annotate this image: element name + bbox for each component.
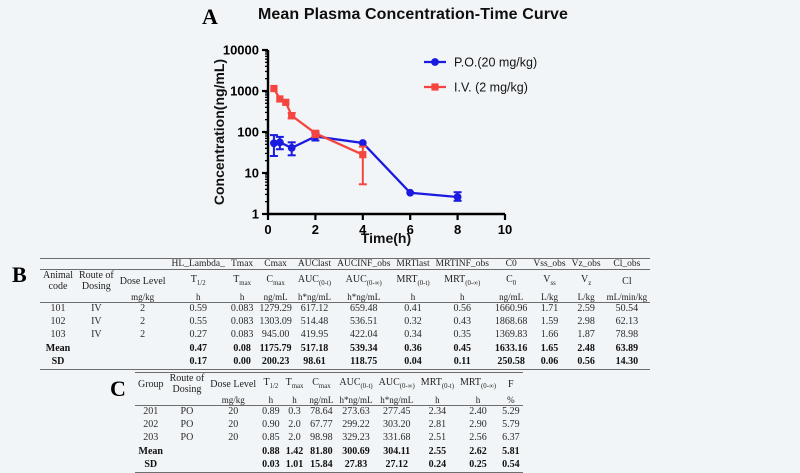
- table-unit-cell: L/kg: [530, 292, 568, 302]
- table-group-header-cell: Cl_obs: [604, 259, 651, 270]
- table-summary-cell: SD: [135, 458, 167, 473]
- table-summary-cell: [167, 445, 208, 458]
- table-column-header-cell: Tmax: [228, 270, 257, 293]
- table-data-cell: 1868.68: [492, 316, 531, 329]
- table-summary-cell: 1.42: [283, 445, 307, 458]
- table-summary-cell: 2.55: [418, 445, 457, 458]
- table-data-cell: 78.64: [306, 406, 336, 419]
- table-data-cell: 20: [207, 406, 259, 419]
- table-data-cell: 102: [40, 316, 76, 329]
- table-summary-cell: 0.00: [228, 355, 257, 370]
- table-summary-cell: 2.62: [457, 445, 499, 458]
- table-summary-cell: 1.65: [530, 342, 568, 355]
- table-data-cell: 103: [40, 329, 76, 342]
- table-summary-cell: 1175.79: [256, 342, 295, 355]
- table-data-cell: PO: [167, 432, 208, 445]
- table-summary-cell: 0.03: [259, 458, 283, 473]
- table-data-cell: 303.20: [376, 419, 418, 432]
- table-summary-cell: 81.80: [306, 445, 336, 458]
- table-unit-cell: ng/mL: [256, 292, 295, 302]
- table-column-header-cell: Cmax: [256, 270, 295, 293]
- table-column-header-cell: AUC(0-t): [336, 373, 375, 395]
- pk-table-iv: HL_Lambda_TmaxCmaxAUClastAUCINF_obsMRTla…: [40, 258, 650, 370]
- table-data-cell: 1660.96: [492, 303, 531, 316]
- table-unit-cell: [76, 292, 117, 302]
- table-summary-cell: [76, 342, 117, 355]
- table-data-cell: 1369.83: [492, 329, 531, 342]
- table-group-header-cell: AUCINF_obs: [334, 259, 393, 270]
- table-unit-cell: h*ng/mL: [334, 292, 393, 302]
- table-column-header-cell: Dose Level: [117, 270, 169, 293]
- table-row: 102IV20.550.0831303.09514.48536.510.320.…: [40, 316, 650, 329]
- table-column-header-cell: T1/2: [259, 373, 283, 395]
- table-unit-cell: %: [499, 395, 523, 405]
- table-data-cell: IV: [76, 303, 117, 316]
- plot-area: 110100100010000 0246810 P.O.(20 mg/kg)I.…: [210, 36, 590, 248]
- table-data-cell: 0.3: [283, 406, 307, 419]
- table-column-header-cell: Group: [135, 373, 167, 395]
- table-summary-cell: 27.12: [376, 458, 418, 473]
- table-summary-cell: 118.75: [334, 355, 393, 370]
- table-column-header-cell: MRT(0-t): [418, 373, 457, 395]
- table-data-cell: 2.56: [457, 432, 499, 445]
- table-row: 101IV20.590.0831279.29617.12659.480.410.…: [40, 303, 650, 316]
- table-data-cell: 0.083: [228, 303, 257, 316]
- table-data-cell: 0.43: [433, 316, 492, 329]
- table-c-head: GroupRoute ofDosingDose LevelT1/2TmaxCma…: [135, 373, 523, 406]
- table-summary-cell: 304.11: [376, 445, 418, 458]
- table-group-header-cell: MRTlast: [393, 259, 432, 270]
- table-summary-cell: [117, 355, 169, 370]
- table-column-header-cell: Tmax: [283, 373, 307, 395]
- table-summary-cell: [76, 355, 117, 370]
- table-summary-cell: 0.08: [228, 342, 257, 355]
- table-data-cell: PO: [167, 406, 208, 419]
- table-data-cell: IV: [76, 329, 117, 342]
- table-c-body: 201PO200.890.378.64273.63277.452.342.405…: [135, 406, 523, 472]
- table-data-cell: 5.29: [499, 406, 523, 419]
- table-column-header-cell: Cmax: [306, 373, 336, 395]
- table-summary-cell: Mean: [40, 342, 76, 355]
- table-data-cell: 2.40: [457, 406, 499, 419]
- table-data-cell: 1.71: [530, 303, 568, 316]
- table-data-cell: 0.32: [393, 316, 432, 329]
- y-tick-label: 1000: [230, 84, 259, 99]
- table-data-cell: 2.59: [569, 303, 604, 316]
- y-axis-title: Concentration(ng/mL): [211, 59, 227, 205]
- table-data-cell: 2.98: [569, 316, 604, 329]
- table-summary-cell: 1.01: [283, 458, 307, 473]
- table-group-header-cell: Cmax: [256, 259, 295, 270]
- table-data-cell: 0.34: [393, 329, 432, 342]
- table-column-header-cell: Vss: [530, 270, 568, 293]
- table-group-header-cell: C0: [492, 259, 531, 270]
- table-column-header-cell: Dose Level: [207, 373, 259, 395]
- table-data-cell: 201: [135, 406, 167, 419]
- table-summary-cell: 1633.16: [492, 342, 531, 355]
- y-tick-label: 10: [245, 166, 259, 181]
- table-data-cell: 20: [207, 419, 259, 432]
- table-column-header-cell: Route ofDosing: [167, 373, 208, 395]
- x-tick-label: 10: [498, 222, 512, 237]
- table-summary-cell: 0.47: [169, 342, 228, 355]
- table-summary-cell: 0.04: [393, 355, 432, 370]
- pk-table-po: GroupRoute ofDosingDose LevelT1/2TmaxCma…: [135, 372, 523, 473]
- table-unit-cell: L/kg: [569, 292, 604, 302]
- table-summary-row-sd: SD 0.031.0115.8427.8327.120.240.250.54: [135, 458, 523, 473]
- table-group-header-cell: [40, 259, 76, 270]
- table-c-unit-row: mg/kghhng/mLh*ng/mLh*ng/mLhh%: [135, 395, 523, 405]
- table-b-head: HL_Lambda_TmaxCmaxAUClastAUCINF_obsMRTla…: [40, 259, 650, 303]
- table-data-cell: 67.77: [306, 419, 336, 432]
- table-data-cell: 2.90: [457, 419, 499, 432]
- table-data-cell: 1279.29: [256, 303, 295, 316]
- table-summary-cell: SD: [40, 355, 76, 370]
- legend-label: I.V. (2 mg/kg): [454, 81, 528, 95]
- table-data-cell: 2.0: [283, 432, 307, 445]
- table-column-header-cell: AUC(0-t): [295, 270, 334, 293]
- table-data-cell: 0.55: [169, 316, 228, 329]
- series-2: [270, 85, 366, 184]
- x-tick-label: 0: [264, 222, 271, 237]
- table-data-cell: 2.0: [283, 419, 307, 432]
- table-data-cell: 2.51: [418, 432, 457, 445]
- table-summary-cell: 27.83: [336, 458, 375, 473]
- table-group-header-cell: Vss_obs: [530, 259, 568, 270]
- table-data-cell: 2: [117, 316, 169, 329]
- panel-b-letter: B: [12, 262, 27, 288]
- table-data-cell: 1.66: [530, 329, 568, 342]
- table-data-cell: 617.12: [295, 303, 334, 316]
- table-data-cell: 0.41: [393, 303, 432, 316]
- table-summary-row-sd: SD 0.170.00200.2398.61118.750.040.11250.…: [40, 355, 650, 370]
- table-summary-cell: 0.54: [499, 458, 523, 473]
- table-data-cell: 1303.09: [256, 316, 295, 329]
- table-row: 203PO200.852.098.98329.23331.682.512.566…: [135, 432, 523, 445]
- table-group-header-cell: AUClast: [295, 259, 334, 270]
- table-unit-cell: mg/kg: [117, 292, 169, 302]
- table-unit-cell: h*ng/mL: [376, 395, 418, 405]
- table-summary-cell: 0.45: [433, 342, 492, 355]
- table-data-cell: 422.04: [334, 329, 393, 342]
- table-unit-cell: h: [393, 292, 432, 302]
- x-axis-title: Time(h): [361, 230, 411, 246]
- table-column-header-cell: Animalcode: [40, 270, 76, 293]
- data-series-layer: [270, 85, 462, 201]
- panel-a-chart: A Mean Plasma Concentration-Time Curve 1…: [0, 0, 800, 248]
- table-column-header-cell: F: [499, 373, 523, 395]
- table-summary-cell: 539.34: [334, 342, 393, 355]
- table-summary-row-mean: Mean 0.881.4281.80300.69304.112.552.625.…: [135, 445, 523, 458]
- table-data-cell: IV: [76, 316, 117, 329]
- table-data-cell: 331.68: [376, 432, 418, 445]
- table-data-cell: 0.083: [228, 316, 257, 329]
- table-data-cell: 78.98: [604, 329, 651, 342]
- table-unit-cell: h: [259, 395, 283, 405]
- table-summary-cell: 14.30: [604, 355, 651, 370]
- table-column-header-cell: AUC(0-∞): [376, 373, 418, 395]
- legend-item-1: P.O.(20 mg/kg): [424, 56, 537, 70]
- table-data-cell: 0.59: [169, 303, 228, 316]
- table-data-cell: 202: [135, 419, 167, 432]
- table-data-cell: 2.34: [418, 406, 457, 419]
- table-unit-cell: h*ng/mL: [336, 395, 375, 405]
- table-unit-cell: mg/kg: [207, 395, 259, 405]
- table-data-cell: 203: [135, 432, 167, 445]
- table-unit-cell: h: [283, 395, 307, 405]
- table-b-body: 101IV20.590.0831279.29617.12659.480.410.…: [40, 303, 650, 369]
- table-data-cell: 20: [207, 432, 259, 445]
- table-summary-cell: 15.84: [306, 458, 336, 473]
- table-data-cell: PO: [167, 419, 208, 432]
- table-data-cell: 0.90: [259, 419, 283, 432]
- table-c-column-header-row: GroupRoute ofDosingDose LevelT1/2TmaxCma…: [135, 373, 523, 395]
- table-unit-cell: [135, 395, 167, 405]
- table-summary-cell: 2.48: [569, 342, 604, 355]
- y-tick-label: 1: [252, 207, 259, 222]
- table-data-cell: 299.22: [336, 419, 375, 432]
- table-column-header-cell: MRT(0-t): [393, 270, 432, 293]
- table-data-cell: 536.51: [334, 316, 393, 329]
- y-tick-label: 10000: [223, 43, 259, 58]
- table-row: 103IV20.270.083945.00419.95422.040.340.3…: [40, 329, 650, 342]
- table-summary-cell: 0.11: [433, 355, 492, 370]
- table-summary-cell: 300.69: [336, 445, 375, 458]
- series-1: [270, 133, 462, 201]
- table-data-cell: 50.54: [604, 303, 651, 316]
- table-data-cell: 2: [117, 329, 169, 342]
- table-unit-cell: [40, 292, 76, 302]
- table-unit-cell: h: [433, 292, 492, 302]
- table-data-cell: 0.56: [433, 303, 492, 316]
- table-data-cell: 329.23: [336, 432, 375, 445]
- table-summary-cell: [207, 445, 259, 458]
- table-data-cell: 0.89: [259, 406, 283, 419]
- x-tick-label: 2: [312, 222, 319, 237]
- table-b-group-header-row: HL_Lambda_TmaxCmaxAUClastAUCINF_obsMRTla…: [40, 259, 650, 270]
- table-unit-cell: ng/mL: [492, 292, 531, 302]
- table-data-cell: 2: [117, 303, 169, 316]
- y-tick-label: 100: [237, 125, 259, 140]
- table-summary-cell: 0.06: [530, 355, 568, 370]
- table-summary-cell: 63.89: [604, 342, 651, 355]
- table-group-header-cell: MRTINF_obs: [433, 259, 492, 270]
- table-summary-cell: [117, 342, 169, 355]
- table-column-header-cell: C0: [492, 270, 531, 293]
- table-data-cell: 277.45: [376, 406, 418, 419]
- table-unit-cell: h*ng/mL: [295, 292, 334, 302]
- table-summary-cell: 5.81: [499, 445, 523, 458]
- table-column-header-cell: MRT(0-∞): [457, 373, 499, 395]
- panel-c-letter: C: [110, 376, 126, 402]
- table-unit-cell: mL/min/kg: [604, 292, 651, 302]
- table-unit-cell: [167, 395, 208, 405]
- legend-item-2: I.V. (2 mg/kg): [424, 81, 528, 95]
- table-unit-cell: h: [169, 292, 228, 302]
- table-group-header-cell: Tmax: [228, 259, 257, 270]
- table-data-cell: 0.85: [259, 432, 283, 445]
- table-summary-cell: 98.61: [295, 355, 334, 370]
- plot-axes: [268, 50, 505, 214]
- table-summary-cell: 0.56: [569, 355, 604, 370]
- legend-label: P.O.(20 mg/kg): [454, 56, 537, 70]
- table-unit-cell: h: [457, 395, 499, 405]
- table-summary-cell: 0.88: [259, 445, 283, 458]
- table-data-cell: 659.48: [334, 303, 393, 316]
- table-column-header-cell: MRT(0-∞): [433, 270, 492, 293]
- table-column-header-cell: T1/2: [169, 270, 228, 293]
- table-group-header-cell: [76, 259, 117, 270]
- table-data-cell: 273.63: [336, 406, 375, 419]
- table-summary-cell: [167, 458, 208, 473]
- table-column-header-cell: Cl: [604, 270, 651, 293]
- table-data-cell: 6.37: [499, 432, 523, 445]
- table-column-header-cell: Vz: [569, 270, 604, 293]
- table-data-cell: 1.59: [530, 316, 568, 329]
- table-summary-cell: 0.24: [418, 458, 457, 473]
- table-group-header-cell: HL_Lambda_: [169, 259, 228, 270]
- table-data-cell: 1.87: [569, 329, 604, 342]
- table-column-header-cell: AUC(0-∞): [334, 270, 393, 293]
- table-data-cell: 0.083: [228, 329, 257, 342]
- concentration-time-plot: 110100100010000 0246810 P.O.(20 mg/kg)I.…: [210, 36, 590, 248]
- table-summary-cell: 0.36: [393, 342, 432, 355]
- y-axis-ticks: 110100100010000: [223, 43, 268, 222]
- table-summary-cell: 0.17: [169, 355, 228, 370]
- table-data-cell: 0.27: [169, 329, 228, 342]
- table-summary-cell: 200.23: [256, 355, 295, 370]
- table-data-cell: 0.35: [433, 329, 492, 342]
- chart-title: Mean Plasma Concentration-Time Curve: [258, 6, 568, 24]
- table-summary-cell: Mean: [135, 445, 167, 458]
- table-unit-cell: h: [418, 395, 457, 405]
- table-data-cell: 419.95: [295, 329, 334, 342]
- panel-a-letter: A: [202, 4, 218, 30]
- table-data-cell: 98.98: [306, 432, 336, 445]
- table-row: 201PO200.890.378.64273.63277.452.342.405…: [135, 406, 523, 419]
- table-data-cell: 2.81: [418, 419, 457, 432]
- table-unit-cell: ng/mL: [306, 395, 336, 405]
- table-data-cell: 514.48: [295, 316, 334, 329]
- table-data-cell: 5.79: [499, 419, 523, 432]
- table-data-cell: 945.00: [256, 329, 295, 342]
- table-column-header-cell: Route ofDosing: [76, 270, 117, 293]
- table-summary-cell: 250.58: [492, 355, 531, 370]
- table-data-cell: 101: [40, 303, 76, 316]
- table-unit-cell: h: [228, 292, 257, 302]
- table-group-header-cell: [117, 259, 169, 270]
- table-row: 202PO200.902.067.77299.22303.202.812.905…: [135, 419, 523, 432]
- table-c-po-pk-parameters: GroupRoute ofDosingDose LevelT1/2TmaxCma…: [135, 372, 523, 473]
- table-summary-cell: 0.25: [457, 458, 499, 473]
- chart-legend: P.O.(20 mg/kg)I.V. (2 mg/kg): [424, 56, 537, 95]
- table-group-header-cell: Vz_obs: [569, 259, 604, 270]
- table-b-unit-row: mg/kghhng/mLh*ng/mLh*ng/mLhhng/mLL/kgL/k…: [40, 292, 650, 302]
- table-summary-cell: 517.18: [295, 342, 334, 355]
- table-summary-cell: [207, 458, 259, 473]
- table-b-iv-pk-parameters: HL_Lambda_TmaxCmaxAUClastAUCINF_obsMRTla…: [40, 258, 650, 370]
- x-tick-label: 8: [454, 222, 461, 237]
- table-b-column-header-row: AnimalcodeRoute ofDosingDose LevelT1/2Tm…: [40, 270, 650, 293]
- table-summary-row-mean: Mean 0.470.081175.79517.18539.340.360.45…: [40, 342, 650, 355]
- table-data-cell: 62.13: [604, 316, 651, 329]
